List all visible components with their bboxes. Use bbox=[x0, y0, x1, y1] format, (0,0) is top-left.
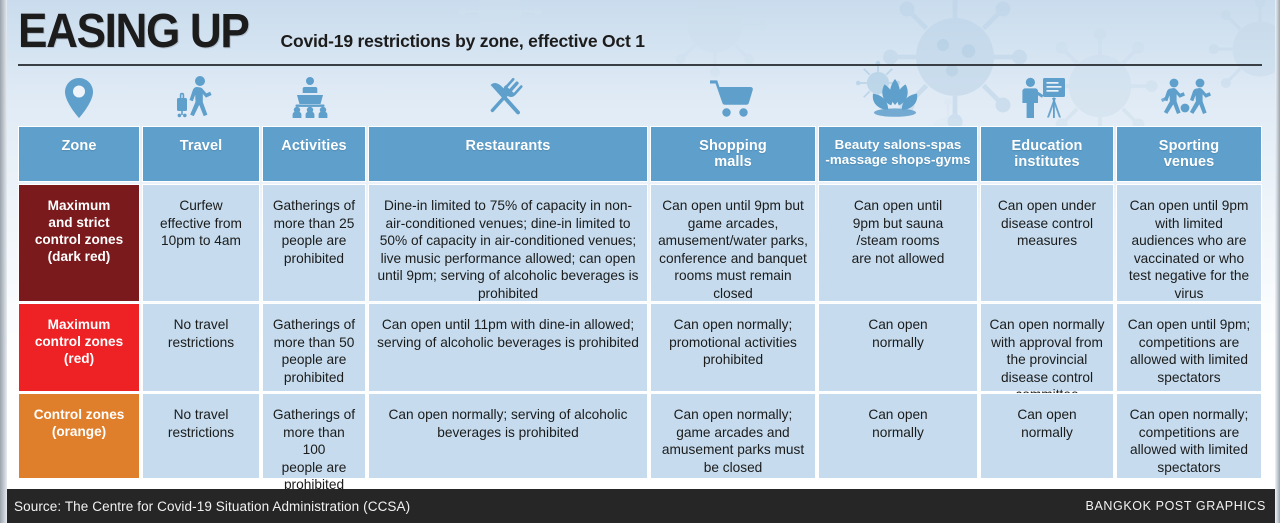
table-cell: Dine-in limited to 75% of capacity in no… bbox=[368, 184, 648, 302]
page-subtitle: Covid-19 restrictions by zone, effective… bbox=[281, 31, 645, 52]
table-cell: No travel restrictions bbox=[142, 303, 260, 392]
table-cell: Can open normally; game arcades and amus… bbox=[650, 393, 816, 479]
table-cell: Can open normally bbox=[818, 393, 978, 479]
source-credit: Source: The Centre for Covid-19 Situatio… bbox=[14, 499, 410, 514]
column-header-shopping-malls: Shopping malls bbox=[650, 126, 816, 182]
zone-label-red: Maximum control zones (red) bbox=[18, 303, 140, 392]
table-cell: Gatherings of more than 100 people are p… bbox=[262, 393, 366, 479]
column-header-zone: Zone bbox=[18, 126, 140, 182]
traveller-with-luggage-icon bbox=[140, 72, 258, 124]
table-cell: Can open until 9pm; competitions are all… bbox=[1116, 303, 1262, 392]
table-cell: Gatherings of more than 25 people are pr… bbox=[262, 184, 366, 302]
fork-and-knife-icon bbox=[362, 72, 650, 124]
table-cell: Can open until 11pm with dine-in allowed… bbox=[368, 303, 648, 392]
table-cell: Curfew effective from 10pm to 4am bbox=[142, 184, 260, 302]
header-divider bbox=[18, 64, 1262, 66]
infographic-root: EASING UP Covid-19 restrictions by zone,… bbox=[0, 0, 1280, 523]
table-cell: Can open normally; serving of alcoholic … bbox=[368, 393, 648, 479]
runners-icon bbox=[1112, 72, 1262, 124]
table-cell: Gatherings of more than 50 people are pr… bbox=[262, 303, 366, 392]
zone-label-dark-red: Maximum and strict control zones (dark r… bbox=[18, 184, 140, 302]
teacher-whiteboard-icon bbox=[976, 72, 1112, 124]
table-cell: Can open until 9pm but sauna /steam room… bbox=[818, 184, 978, 302]
page-header: EASING UP Covid-19 restrictions by zone,… bbox=[18, 8, 1262, 66]
lotus-flower-icon bbox=[814, 72, 976, 124]
column-header-sporting-venues: Sporting venues bbox=[1116, 126, 1262, 182]
location-pin-icon bbox=[18, 72, 140, 124]
speaker-podium-audience-icon bbox=[258, 72, 362, 124]
table-cell: Can open normally bbox=[818, 303, 978, 392]
table-cell: Can open normally with approval from the… bbox=[980, 303, 1114, 392]
column-icon-strip bbox=[18, 72, 1262, 124]
footer-bar: Source: The Centre for Covid-19 Situatio… bbox=[0, 489, 1280, 523]
publisher-credit: BANGKOK POST GRAPHICS bbox=[1086, 499, 1266, 513]
column-header-activities: Activities bbox=[262, 126, 366, 182]
table-cell: Can open normally bbox=[980, 393, 1114, 479]
column-header-travel: Travel bbox=[142, 126, 260, 182]
table-cell: Can open until 9pm with limited audience… bbox=[1116, 184, 1262, 302]
column-header-education-institutes: Education institutes bbox=[980, 126, 1114, 182]
shopping-cart-icon bbox=[650, 72, 814, 124]
table-cell: Can open under disease control measures bbox=[980, 184, 1114, 302]
table-cell: Can open until 9pm but game arcades, amu… bbox=[650, 184, 816, 302]
column-header-restaurants: Restaurants bbox=[368, 126, 648, 182]
table-cell: Can open normally; promotional activitie… bbox=[650, 303, 816, 392]
table-cell: No travel restrictions bbox=[142, 393, 260, 479]
page-title: EASING UP bbox=[18, 8, 249, 56]
zone-label-orange: Control zones (orange) bbox=[18, 393, 140, 479]
table-cell: Can open normally; competitions are allo… bbox=[1116, 393, 1262, 479]
column-header-beauty-salons: Beauty salons-spas -massage shops-gyms bbox=[818, 126, 978, 182]
